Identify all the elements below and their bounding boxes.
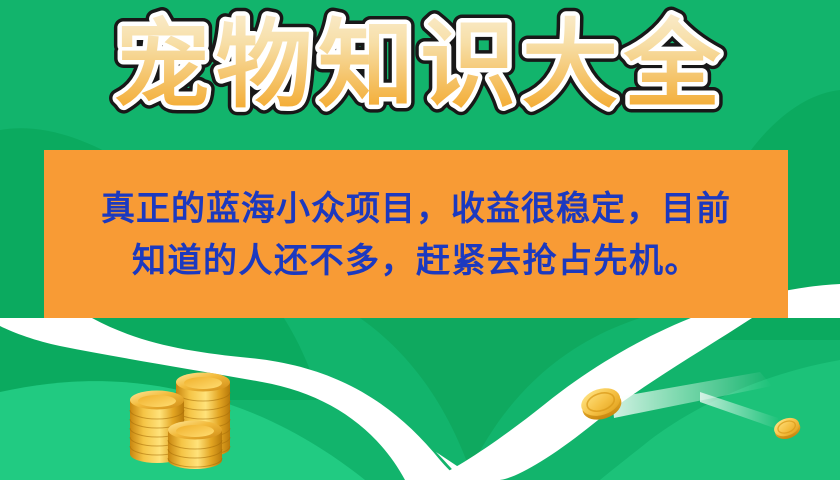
subtitle-line-1: 真正的蓝海小众项目，收益很稳定，目前 bbox=[101, 184, 731, 236]
flying-coin-large-icon bbox=[578, 382, 624, 424]
poster-canvas: 宠物知识大全 宠物知识大全 宠物知识大全 真正的蓝海小众项目，收益很稳定，目前 … bbox=[0, 0, 840, 480]
title-text: 宠物知识大全 bbox=[114, 9, 726, 121]
coin-stack-icon bbox=[126, 366, 242, 474]
subtitle-panel: 真正的蓝海小众项目，收益很稳定，目前 知道的人还不多，赶紧去抢占先机。 bbox=[44, 150, 788, 318]
subtitle-line-2: 知道的人还不多，赶紧去抢占先机。 bbox=[132, 236, 700, 288]
title-svg: 宠物知识大全 宠物知识大全 宠物知识大全 bbox=[90, 6, 750, 124]
flying-coin-small-icon bbox=[772, 414, 802, 442]
poster-title: 宠物知识大全 宠物知识大全 宠物知识大全 bbox=[0, 6, 840, 124]
coin-stack-front bbox=[168, 421, 222, 470]
